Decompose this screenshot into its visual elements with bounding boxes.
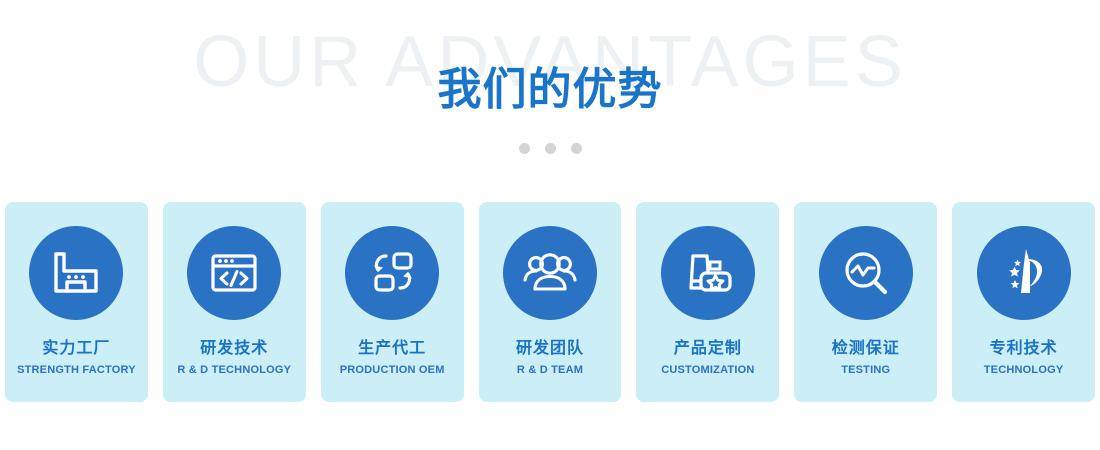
advantage-card-testing[interactable]: 检测保证 TESTING bbox=[794, 202, 937, 402]
advantage-card-list: 实力工厂 STRENGTH FACTORY 研发技术 R & D TECHNOL… bbox=[5, 202, 1095, 402]
card-title: 专利技术 bbox=[990, 340, 1058, 358]
card-title: 实力工厂 bbox=[42, 340, 110, 358]
separator-dot-3 bbox=[571, 143, 582, 154]
exchange-squares-icon bbox=[364, 245, 420, 301]
card-subtitle: PRODUCTION OEM bbox=[340, 364, 445, 376]
dots-separator bbox=[0, 143, 1100, 154]
code-window-icon bbox=[206, 245, 262, 301]
card-title: 研发团队 bbox=[516, 340, 584, 358]
page-title: 我们的优势 bbox=[0, 68, 1100, 112]
icon-badge bbox=[29, 226, 123, 320]
icon-badge bbox=[345, 226, 439, 320]
advantage-card-rd-team[interactable]: 研发团队 R & D TEAM bbox=[479, 202, 622, 402]
card-title: 产品定制 bbox=[674, 340, 742, 358]
card-subtitle: CUSTOMIZATION bbox=[661, 364, 754, 376]
factory-icon bbox=[48, 245, 104, 301]
separator-dot-2 bbox=[545, 143, 556, 154]
section-header: OUR ADVANTAGES 我们的优势 bbox=[0, 0, 1100, 190]
card-subtitle: R & D TEAM bbox=[517, 364, 583, 376]
team-people-icon bbox=[521, 244, 579, 302]
card-subtitle: TESTING bbox=[841, 364, 890, 376]
advantage-card-rd-technology[interactable]: 研发技术 R & D TECHNOLOGY bbox=[163, 202, 306, 402]
icon-badge bbox=[977, 226, 1071, 320]
card-title: 研发技术 bbox=[200, 340, 268, 358]
patent-emblem-icon bbox=[995, 244, 1053, 302]
separator-dot-1 bbox=[519, 143, 530, 154]
icon-badge bbox=[187, 226, 281, 320]
advantage-card-patent-technology[interactable]: 专利技术 TECHNOLOGY bbox=[952, 202, 1095, 402]
magnifier-waveform-icon bbox=[838, 245, 894, 301]
icon-badge bbox=[503, 226, 597, 320]
card-subtitle: TECHNOLOGY bbox=[984, 364, 1064, 376]
card-title: 生产代工 bbox=[358, 340, 426, 358]
card-subtitle: STRENGTH FACTORY bbox=[17, 364, 136, 376]
card-subtitle: R & D TECHNOLOGY bbox=[177, 364, 291, 376]
card-title: 检测保证 bbox=[832, 340, 900, 358]
cosmetic-tube-jar-icon bbox=[680, 245, 736, 301]
advantage-card-customization[interactable]: 产品定制 CUSTOMIZATION bbox=[636, 202, 779, 402]
advantage-card-production-oem[interactable]: 生产代工 PRODUCTION OEM bbox=[321, 202, 464, 402]
advantage-card-strength-factory[interactable]: 实力工厂 STRENGTH FACTORY bbox=[5, 202, 148, 402]
icon-badge bbox=[819, 226, 913, 320]
icon-badge bbox=[661, 226, 755, 320]
